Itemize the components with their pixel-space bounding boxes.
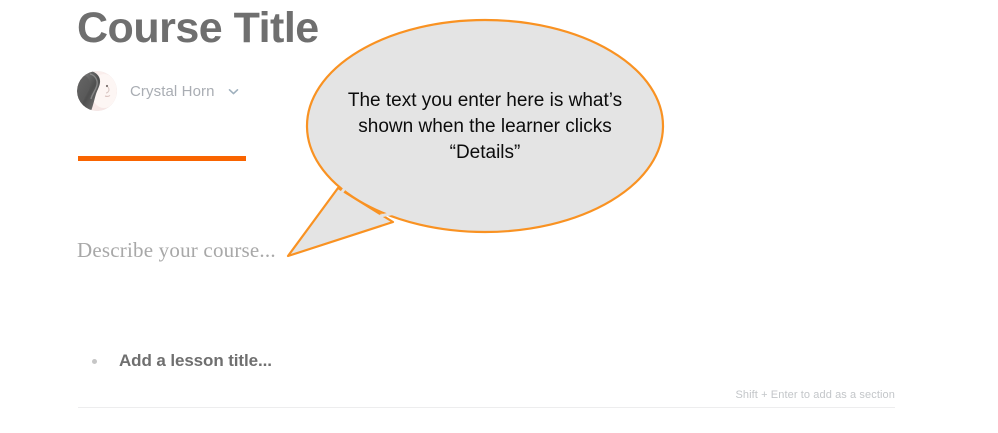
bullet-icon bbox=[92, 359, 97, 364]
course-title[interactable]: Course Title bbox=[77, 2, 319, 54]
chevron-down-icon[interactable] bbox=[227, 85, 240, 98]
course-editor-canvas: Course Title bbox=[0, 0, 998, 433]
accent-divider bbox=[78, 156, 246, 161]
avatar bbox=[77, 71, 117, 111]
callout-line-2: shown when the learner clicks bbox=[320, 114, 650, 140]
author-name: Crystal Horn bbox=[130, 83, 215, 100]
section-hint-text: Shift + Enter to add as a section bbox=[735, 389, 895, 401]
course-description-input[interactable]: Describe your course... bbox=[77, 238, 276, 263]
callout-line-3: “Details” bbox=[320, 140, 650, 166]
callout-text: The text you enter here is what’s shown … bbox=[320, 88, 650, 166]
lesson-title-input[interactable]: Add a lesson title... bbox=[119, 351, 272, 371]
bottom-divider bbox=[78, 407, 895, 408]
callout-line-1: The text you enter here is what’s bbox=[320, 88, 650, 114]
author-row[interactable]: Crystal Horn bbox=[77, 71, 240, 111]
lesson-list-item[interactable]: Add a lesson title... bbox=[92, 351, 272, 371]
